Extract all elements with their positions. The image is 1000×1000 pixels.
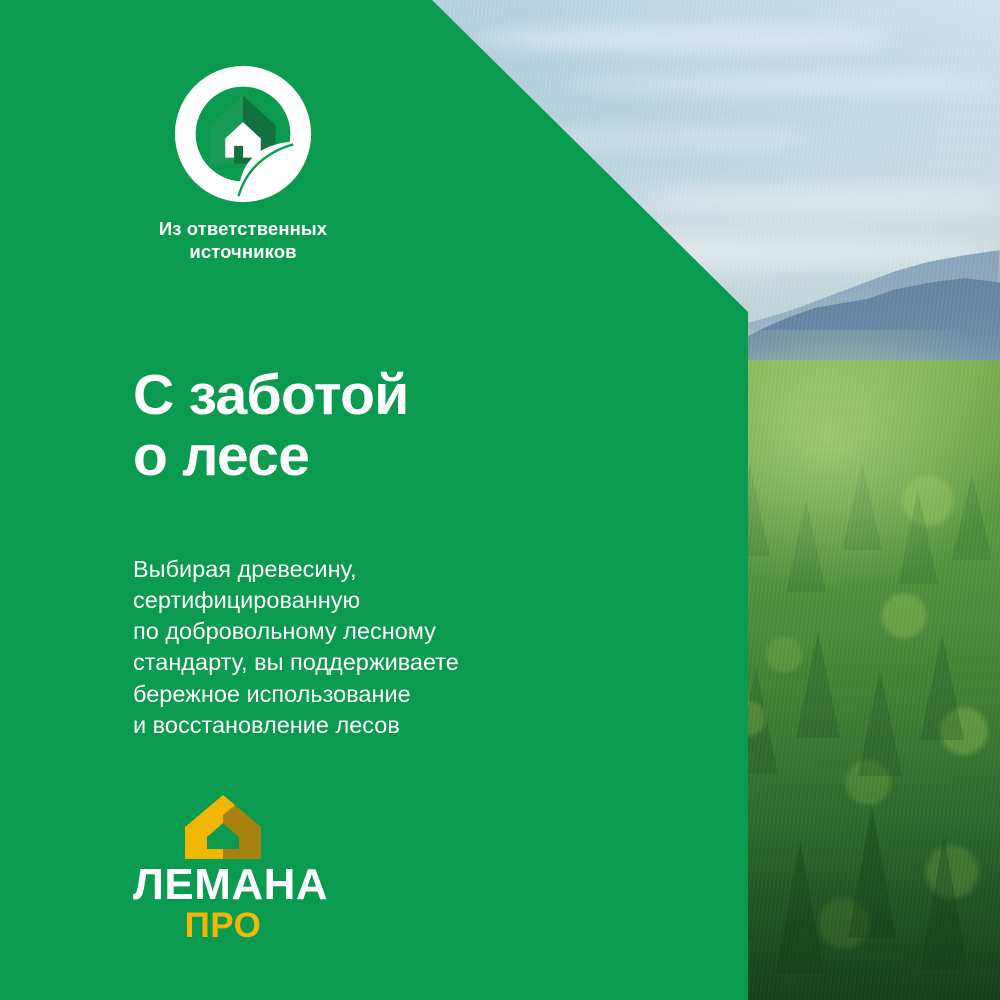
page-title: С заботой о лесе [133, 365, 409, 486]
body-paragraph: Выбирая древесину, сертифицированную по … [133, 554, 459, 742]
lemana-house-logo-icon [175, 793, 271, 861]
responsible-sourcing-eco-mark-icon [169, 60, 317, 208]
brand-logo: ЛЕМАНА ПРО [133, 793, 313, 943]
eco-badge: Из ответственных источников [133, 60, 353, 263]
poster-content: Из ответственных источников С заботой о … [0, 0, 1000, 1000]
brand-name: ЛЕМАНА [133, 863, 313, 907]
poster-root: Из ответственных источников С заботой о … [0, 0, 1000, 1000]
brand-subname: ПРО [133, 908, 313, 943]
eco-badge-caption: Из ответственных источников [133, 218, 353, 263]
